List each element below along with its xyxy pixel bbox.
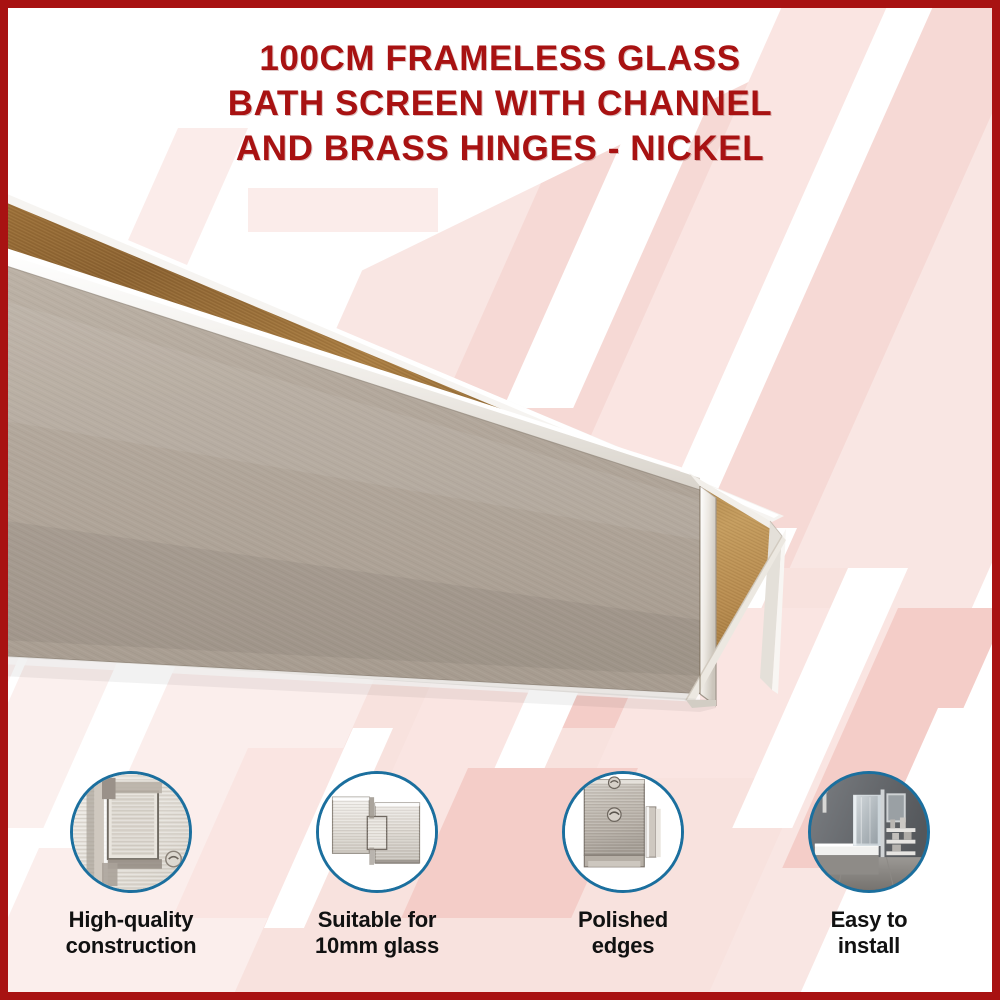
brass-hinge-photo-icon	[316, 771, 438, 893]
feature-item-easy-to-install: Easy to install	[769, 771, 969, 959]
feature-label-line-1: Suitable for	[315, 907, 439, 933]
background-stripe	[248, 188, 438, 232]
feature-label-easy-to-install: Easy to install	[831, 907, 908, 959]
feature-label-line-2: 10mm glass	[315, 933, 439, 959]
feature-label-line-2: install	[831, 933, 908, 959]
product-promo-image: 100CM FRAMELESS GLASS BATH SCREEN WITH C…	[0, 0, 1000, 1000]
feature-item-suitable-for-10mm-glass: Suitable for 10mm glass	[277, 771, 477, 959]
feature-label-line-1: Polished	[578, 907, 668, 933]
glass-clamp-photo-icon	[70, 771, 192, 893]
feature-label-polished-edges: Polished edges	[578, 907, 668, 959]
feature-label-line-2: construction	[66, 933, 197, 959]
title-line-1: 100CM FRAMELESS GLASS	[0, 36, 1000, 81]
feature-label-suitable-for-10mm-glass: Suitable for 10mm glass	[315, 907, 439, 959]
product-title: 100CM FRAMELESS GLASS BATH SCREEN WITH C…	[0, 36, 1000, 171]
title-line-2: BATH SCREEN WITH CHANNEL	[0, 81, 1000, 126]
polished-edge-bracket-photo-icon	[562, 771, 684, 893]
feature-label-high-quality-construction: High-quality construction	[66, 907, 197, 959]
installed-bathroom-photo-icon	[808, 771, 930, 893]
feature-item-high-quality-construction: High-quality construction	[31, 771, 231, 959]
feature-item-polished-edges: Polished edges	[523, 771, 723, 959]
feature-label-line-1: Easy to	[831, 907, 908, 933]
feature-label-line-1: High-quality	[66, 907, 197, 933]
feature-label-line-2: edges	[578, 933, 668, 959]
feature-list: High-quality construction	[8, 771, 992, 986]
title-line-3: AND BRASS HINGES - NICKEL	[0, 126, 1000, 171]
